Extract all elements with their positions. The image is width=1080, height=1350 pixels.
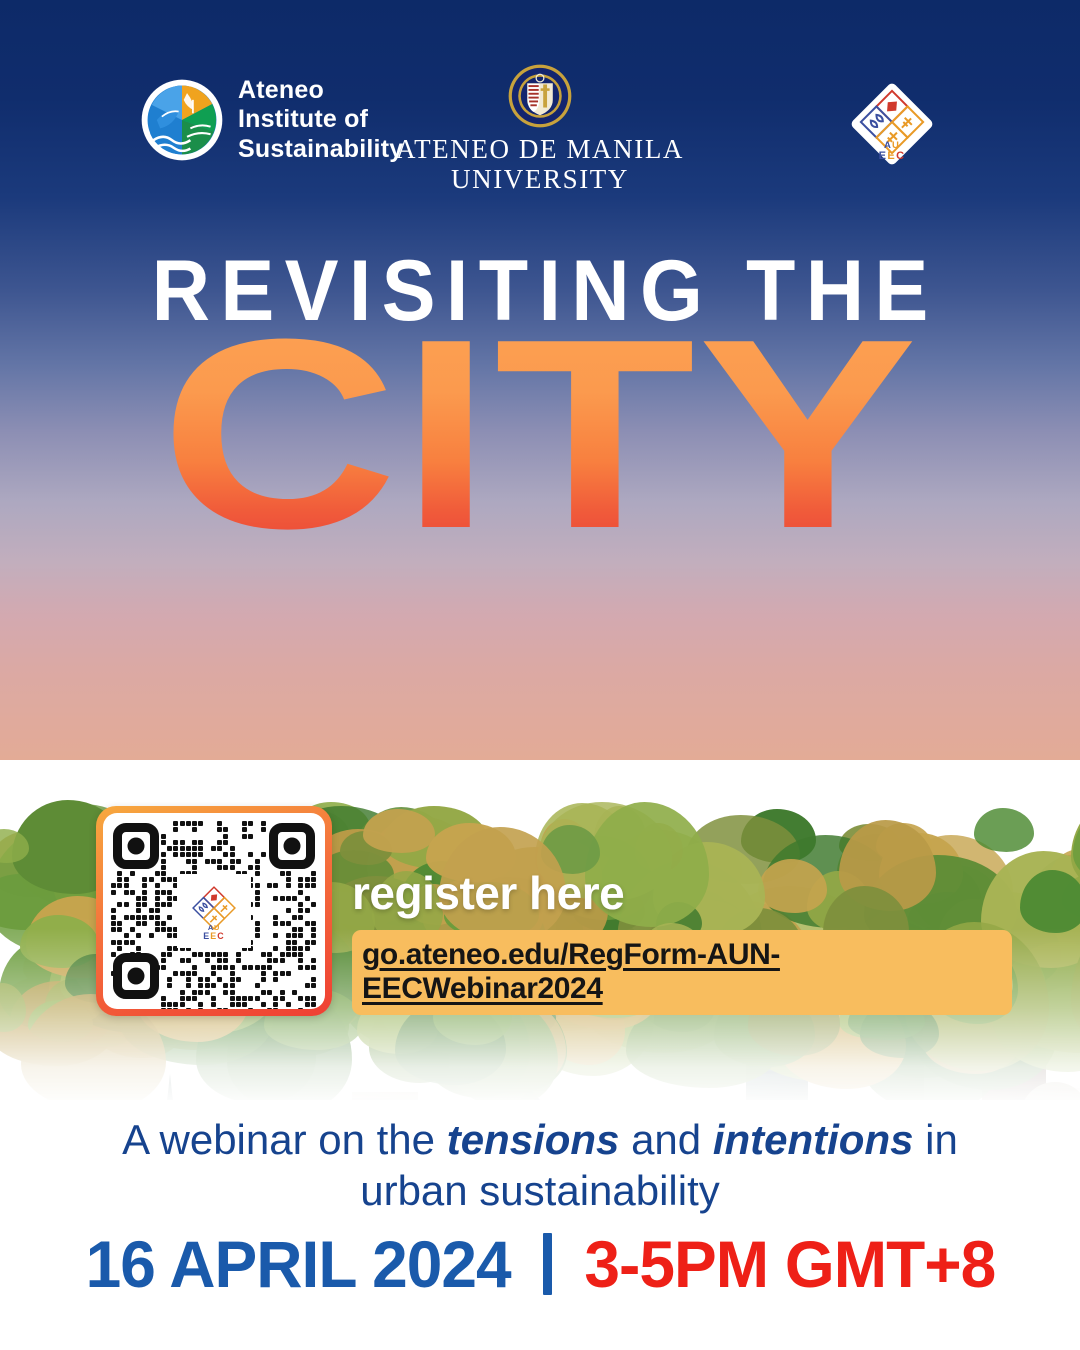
webinar-subtitle: A webinar on the tensions and intentions… [0,1114,1080,1216]
footer-panel: A webinar on the tensions and intentions… [0,1100,1080,1350]
qr-finder-top-right [269,823,315,869]
event-time: 3-5PM GMT+8 [584,1226,995,1302]
event-date: 16 APRIL 2024 [85,1226,510,1302]
admu-wordmark: ATENEO DE MANILA UNIVERSITY [340,134,740,194]
date-time-row: 16 APRIL 2024 3-5PM GMT+8 [0,1226,1080,1302]
admu-line-2: UNIVERSITY [340,164,740,194]
admu-line-1: ATENEO DE MANILA [340,134,740,164]
webinar-poster: REVISITING THE CITY [0,0,1080,1350]
registration-url-link[interactable]: go.ateneo.edu/RegForm-AUN-EECWebinar2024 [352,930,1012,1015]
subtitle-part-3: intentions [713,1116,914,1163]
subtitle-part-2: and [619,1116,712,1163]
headline-line-2: CITY [0,327,1080,543]
register-heading: register here [352,866,1012,920]
logo-ateneo-de-manila-university: ATENEO DE MANILA UNIVERSITY [340,64,740,194]
svg-text:EEC: EEC [879,150,906,162]
register-block: register here go.ateneo.edu/RegForm-AUN-… [352,866,1012,1015]
headline-block: REVISITING THE CITY [0,250,1080,543]
header-logo-row: Ateneo Institute of Sustainability [0,58,1080,188]
qr-finder-top-left [113,823,159,869]
subtitle-part-1: tensions [447,1116,620,1163]
qr-finder-bottom-left [113,953,159,999]
sustainability-circle-icon [140,78,224,162]
aun-eec-diamond-icon: AU EEC [842,74,942,174]
svg-text:EEC: EEC [203,931,224,941]
admu-seal-icon [508,64,572,128]
qr-center-aun-eec-logo: AU EEC [177,874,251,948]
date-time-separator [543,1233,552,1295]
logo-aun-eec: AU EEC [842,74,942,174]
qr-code-block[interactable]: AU EEC [96,806,332,1016]
qr-code-icon[interactable]: AU EEC [103,813,325,1009]
subtitle-part-0: A webinar on the [122,1116,447,1163]
